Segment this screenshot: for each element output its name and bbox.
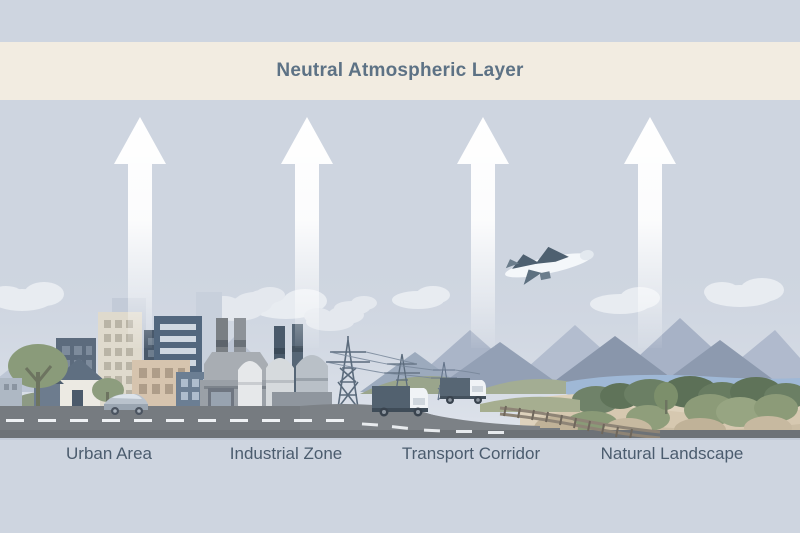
- zone-label-natural-landscape: Natural Landscape: [601, 444, 744, 464]
- zone-label-row: Urban Area Industrial Zone Transport Cor…: [0, 444, 800, 474]
- zone-label-urban-area: Urban Area: [66, 444, 152, 464]
- infographic-scene: Neutral Atmospheric Layer Urban Area Ind…: [0, 0, 800, 533]
- ground-baseline: [0, 438, 800, 440]
- page-title: Neutral Atmospheric Layer: [276, 60, 523, 82]
- truck: [372, 386, 428, 417]
- zone-label-industrial-zone: Industrial Zone: [230, 444, 342, 464]
- header-band: Neutral Atmospheric Layer: [0, 42, 800, 100]
- zone-label-transport-corridor: Transport Corridor: [402, 444, 540, 464]
